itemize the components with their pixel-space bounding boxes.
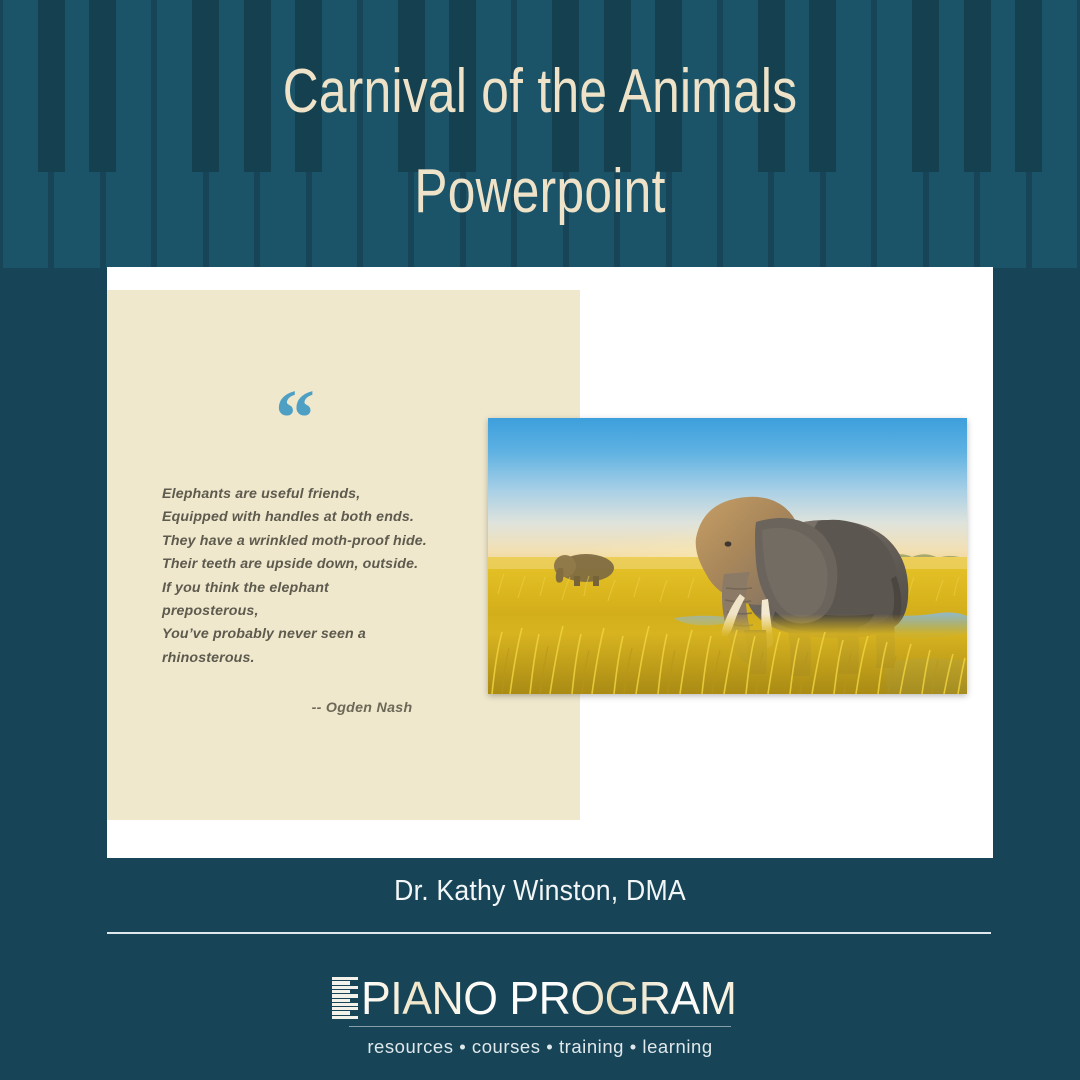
title-line-2: Powerpoint bbox=[108, 142, 972, 242]
background-black-key bbox=[38, 0, 65, 172]
poster-canvas: Carnival of the Animals Powerpoint “ Ele… bbox=[0, 0, 1080, 1080]
elephant-photo bbox=[488, 418, 967, 694]
brand-name: PIANO PROGRAM bbox=[361, 975, 736, 1021]
piano-key-bar bbox=[332, 990, 350, 993]
divider-rule bbox=[107, 932, 991, 934]
page-title: Carnival of the Animals Powerpoint bbox=[108, 42, 972, 243]
piano-key-bar bbox=[332, 994, 358, 997]
piano-key-bar bbox=[332, 981, 350, 984]
quote-attribution: -- Ogden Nash bbox=[162, 700, 562, 716]
piano-key-bar bbox=[332, 1016, 358, 1019]
piano-key-bar bbox=[332, 977, 358, 980]
piano-key-bar bbox=[332, 1007, 358, 1010]
piano-key-bar bbox=[332, 1003, 358, 1006]
slide-preview-card[interactable]: “ Elephants are useful friends,Equipped … bbox=[107, 267, 993, 858]
piano-key-bar bbox=[332, 986, 358, 989]
piano-key-bar bbox=[332, 999, 350, 1002]
brand-tagline: resources • courses • training • learnin… bbox=[0, 1036, 1080, 1058]
presenter-name: Dr. Kathy Winston, DMA bbox=[43, 875, 1037, 908]
brand-logo[interactable]: PIANO PROGRAM bbox=[0, 973, 1080, 1024]
elephant-photo-artwork bbox=[488, 418, 967, 694]
quote-mark-icon: “ bbox=[275, 395, 315, 443]
title-line-1: Carnival of the Animals bbox=[108, 42, 972, 142]
logo-divider bbox=[349, 1026, 731, 1027]
piano-keys-icon bbox=[332, 977, 358, 1019]
piano-key-bar bbox=[332, 1011, 350, 1014]
background-black-key bbox=[1015, 0, 1042, 172]
